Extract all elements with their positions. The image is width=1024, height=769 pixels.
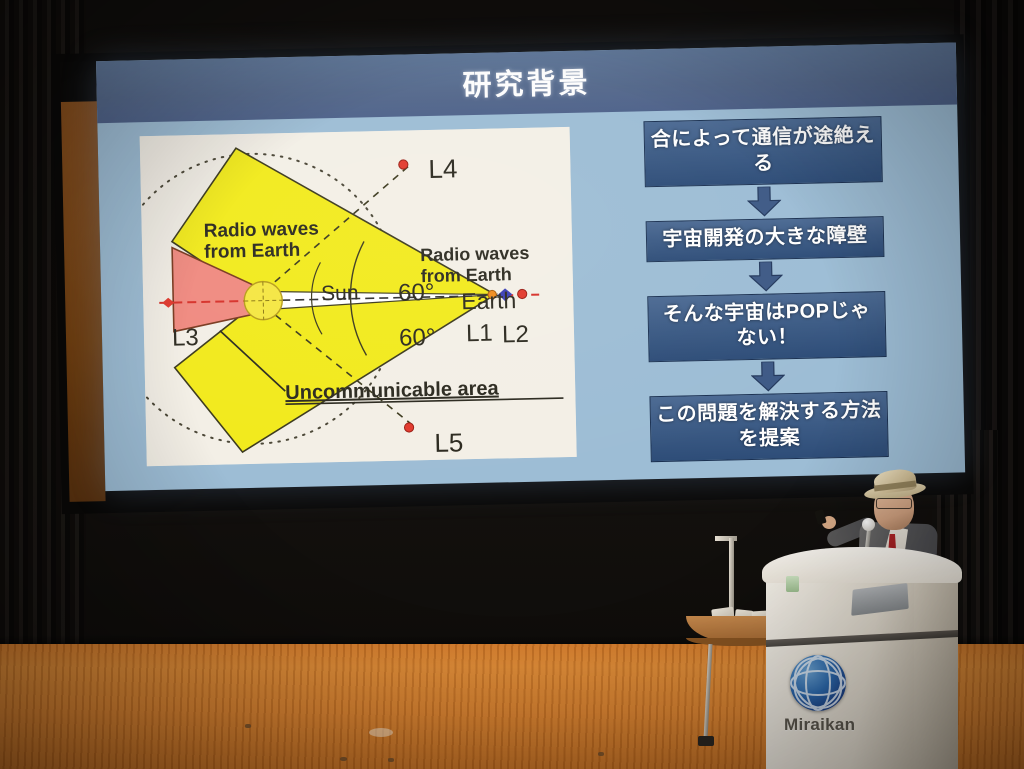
- label-radio-waves-left-line2: from Earth: [204, 240, 301, 263]
- label-l1: L1: [466, 320, 493, 348]
- label-radio-waves-left-line1: Radio waves: [204, 218, 320, 242]
- down-arrow-icon: [749, 261, 784, 292]
- floor-debris: [388, 758, 394, 762]
- label-sun: Sun: [321, 282, 359, 306]
- floor-debris: [598, 752, 604, 756]
- flow-arrow-3: [643, 357, 894, 396]
- photo-scene: 研究背景: [0, 0, 1024, 769]
- water-cup: [786, 576, 799, 592]
- down-arrow-icon: [751, 361, 786, 392]
- floor-debris: [340, 757, 347, 761]
- label-l2: L2: [502, 321, 529, 349]
- label-angle-top: 60°: [398, 279, 435, 307]
- flowchart: 合によって通信が途絶える 宇宙開発の大きな障壁 そんな宇宙はPOPじゃない！: [637, 116, 894, 463]
- label-l3: L3: [172, 324, 199, 352]
- flow-box-2: 宇宙開発の大きな障壁: [646, 216, 885, 262]
- side-table-foot: [698, 736, 714, 746]
- projection-screen: 研究背景: [60, 42, 965, 501]
- lagrange-diagram-svg: Radio waves from Earth Radio waves from …: [140, 127, 577, 466]
- floor-scuff: [369, 728, 393, 737]
- label-l5: L5: [434, 427, 464, 458]
- label-angle-bottom: 60°: [399, 324, 436, 352]
- label-earth: Earth: [461, 287, 517, 314]
- floor-debris: [245, 724, 251, 728]
- flow-box-4: この問題を解決する方法を提案: [649, 391, 888, 462]
- down-arrow-icon: [747, 186, 782, 217]
- flow-box-3: そんな宇宙はPOPじゃない！: [647, 291, 886, 362]
- lectern-side-panel: [914, 581, 958, 769]
- presenter-glasses: [876, 498, 912, 509]
- flow-arrow-2: [641, 257, 892, 296]
- flow-box-1: 合によって通信が途絶える: [643, 116, 882, 187]
- venue-logo-text: Miraikan: [784, 715, 894, 735]
- microphone-head: [862, 518, 875, 531]
- flow-arrow-1: [639, 182, 890, 221]
- label-l4: L4: [428, 153, 458, 184]
- label-radio-waves-right-line2: from Earth: [421, 264, 512, 286]
- label-radio-waves-right-line1: Radio waves: [420, 243, 529, 265]
- globe-icon: [790, 655, 846, 711]
- lagrange-diagram-panel: Radio waves from Earth Radio waves from …: [140, 127, 577, 466]
- slide-title-text: 研究背景: [96, 51, 957, 112]
- presentation-slide: 研究背景: [96, 42, 965, 491]
